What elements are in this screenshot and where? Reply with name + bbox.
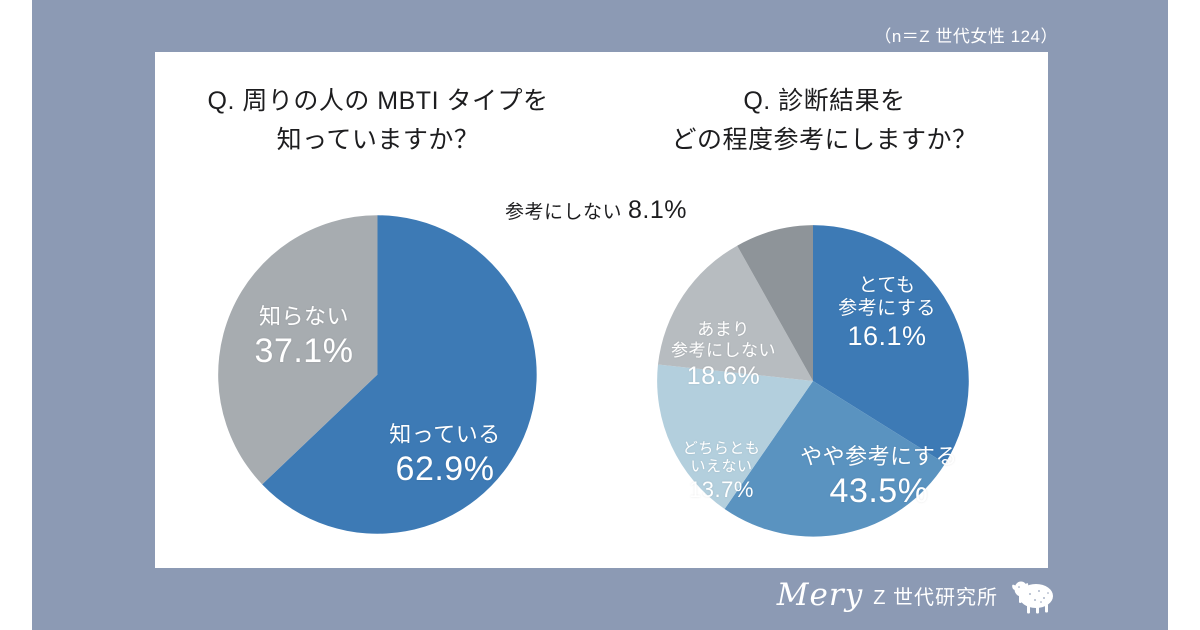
pie-label-totemo: とても 参考にする 16.1% (822, 274, 952, 353)
chart-block-awareness: Q. 周りの人の MBTI タイプを 知っていますか？ 知らない 37.1% 知… (155, 52, 601, 568)
brand-subtitle: Z 世代研究所 (873, 581, 998, 610)
pie-label-dochiratomo-line1: どちらとも (659, 440, 784, 458)
callout-label-sankou-shinai: 参考にしない8.1% (505, 196, 687, 225)
chart-title-awareness: Q. 周りの人の MBTI タイプを 知っていますか？ (155, 82, 601, 160)
pie-label-shiranai-value: 37.1% (229, 331, 379, 372)
pie-label-yaya: やや参考にする 43.5% (784, 444, 974, 512)
pie-label-shitteiru-text: 知っている (355, 422, 535, 449)
chart-title-r-line1: Q. 診断結果を (743, 87, 905, 115)
pie-label-totemo-line1: とても (822, 274, 952, 297)
pie-label-dochiratomo: どちらとも いえない 13.7% (659, 440, 784, 503)
brand-name: Mery (777, 577, 863, 613)
pie-label-amari-value: 18.6% (651, 361, 796, 392)
pie-label-shiranai: 知らない 37.1% (229, 304, 379, 372)
pie-label-amari: あまり 参考にしない 18.6% (651, 320, 796, 392)
pie-label-amari-line2: 参考にしない (651, 341, 796, 362)
callout-label-value: 8.1% (628, 196, 687, 224)
pie-label-yaya-value: 43.5% (784, 471, 974, 512)
chart-title-r-line2: どの程度参考にしますか？ (601, 121, 1048, 160)
pie-label-shitteiru-value: 62.9% (355, 449, 535, 490)
sheep-icon (1008, 576, 1058, 614)
chart-block-reference: Q. 診断結果を どの程度参考にしますか？ (601, 52, 1048, 568)
pie-chart-reference: とても 参考にする 16.1% やや参考にする 43.5% どちらとも いえない… (654, 222, 972, 540)
pie-label-dochiratomo-line2: いえない (659, 458, 784, 476)
chart-title-line2: 知っていますか？ (155, 121, 601, 160)
chart-title-line1: Q. 周りの人の MBTI タイプを (208, 87, 549, 115)
content-card: Q. 周りの人の MBTI タイプを 知っていますか？ 知らない 37.1% 知… (155, 52, 1048, 568)
callout-label-text: 参考にしない (505, 202, 622, 223)
pie-label-dochiratomo-value: 13.7% (659, 477, 784, 504)
pie-label-totemo-value: 16.1% (822, 320, 952, 353)
pie-label-shiranai-text: 知らない (229, 304, 379, 331)
pie-chart-awareness: 知らない 37.1% 知っている 62.9% (215, 212, 540, 537)
footer-logo: Mery Z 世代研究所 (777, 576, 1058, 614)
infographic-canvas: （n＝Z 世代女性 124） Q. 周りの人の MBTI タイプを 知っています… (0, 0, 1200, 630)
chart-title-reference: Q. 診断結果を どの程度参考にしますか？ (601, 82, 1048, 160)
pie-label-amari-line1: あまり (651, 320, 796, 341)
pie-label-yaya-line1: やや参考にする (784, 444, 974, 471)
pie-label-shitteiru: 知っている 62.9% (355, 422, 535, 490)
sample-size-note: （n＝Z 世代女性 124） (874, 22, 1058, 47)
pie-label-totemo-line2: 参考にする (822, 297, 952, 320)
